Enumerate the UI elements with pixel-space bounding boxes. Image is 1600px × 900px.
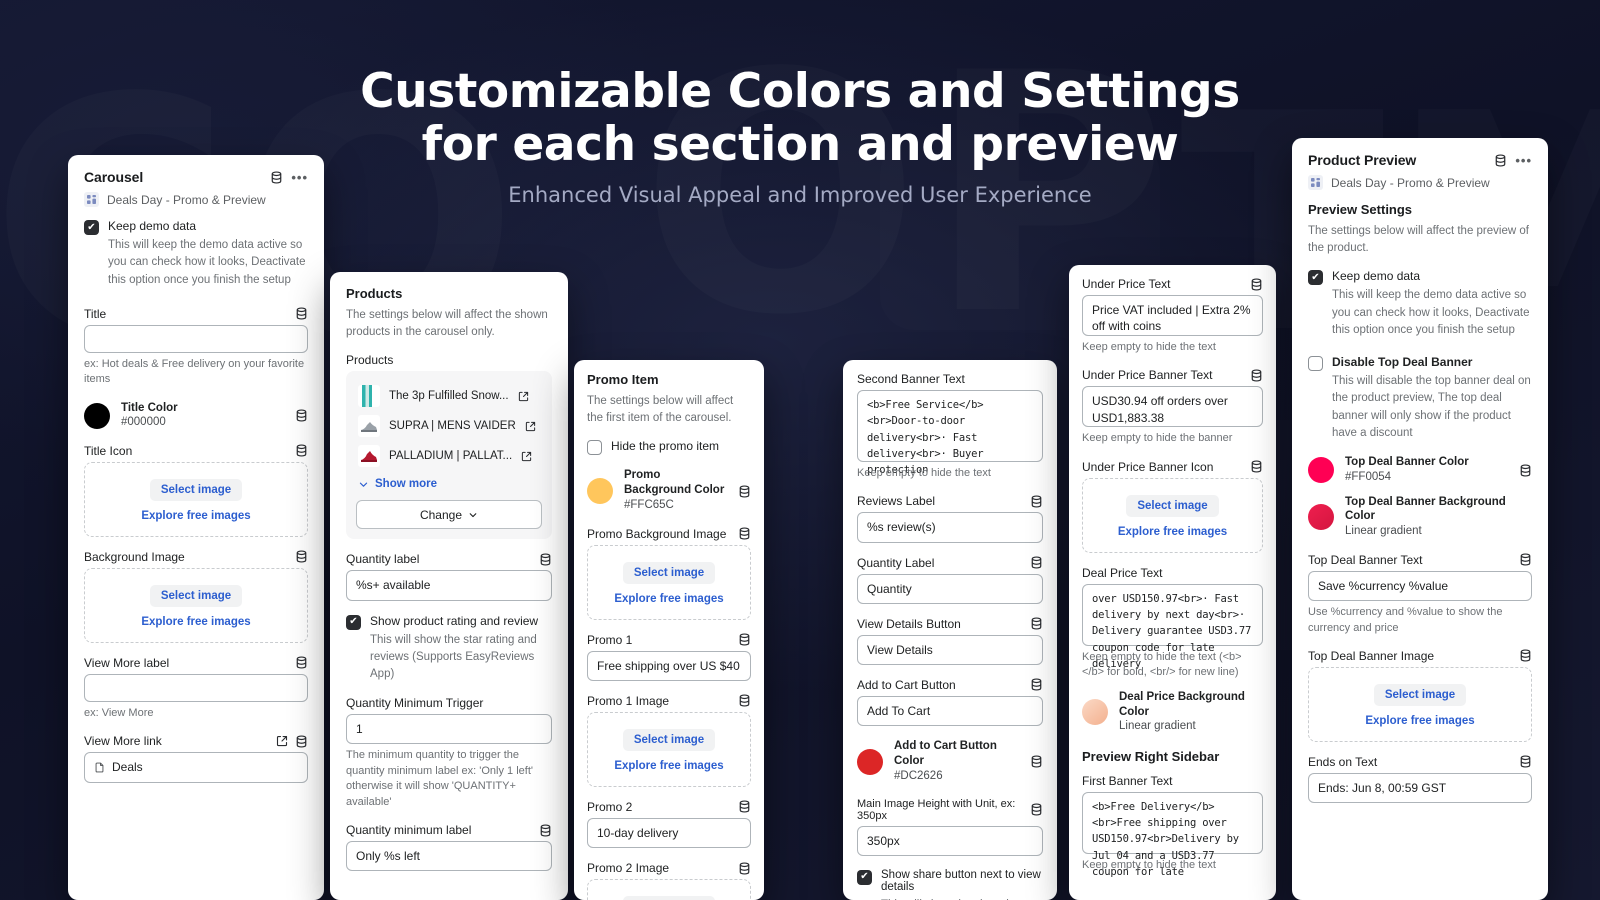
second-banner-text-helper: Keep empty to hide the text: [857, 466, 1043, 481]
promo-background-color-value: #FFC65C: [624, 498, 727, 514]
external-link-icon[interactable]: [521, 451, 532, 462]
keep-demo-data-description: This will keep the demo data active so y…: [108, 237, 308, 289]
database-icon[interactable]: [1519, 649, 1532, 662]
under-price-text-label: Under Price Text: [1082, 277, 1170, 291]
top-deal-banner-text-input[interactable]: Save %currency %value: [1308, 571, 1532, 601]
view-more-link-value: Deals: [112, 759, 143, 775]
keep-demo-data-checkbox[interactable]: ✔: [1308, 270, 1323, 285]
quantity-min-label-input[interactable]: Only %s left: [346, 841, 552, 871]
under-price-text-helper: Keep empty to hide the text: [1082, 340, 1263, 355]
external-link-icon[interactable]: [276, 735, 288, 747]
keep-demo-data-checkbox-row[interactable]: ✔ Keep demo data This will keep the demo…: [1308, 269, 1532, 339]
database-icon[interactable]: [738, 527, 751, 540]
second-banner-text-input[interactable]: <b>Free Service</b><br>Door-to-door deli…: [857, 390, 1043, 462]
change-products-button[interactable]: Change: [356, 500, 542, 529]
select-image-button[interactable]: Select image: [623, 562, 715, 584]
second-banner-text-label: Second Banner Text: [857, 372, 965, 386]
under-price-banner-icon-dropzone[interactable]: Select image Explore free images: [1082, 478, 1263, 553]
deal-price-text-input[interactable]: over USD150.97<br>· Fast delivery by nex…: [1082, 584, 1263, 646]
database-icon[interactable]: [1030, 678, 1043, 691]
database-icon[interactable]: [738, 694, 751, 707]
top-deal-banner-bg-color-row[interactable]: Top Deal Banner Background Color Linear …: [1308, 495, 1532, 540]
promo2-image-dropzone[interactable]: Select image Explore free images: [587, 879, 751, 900]
show-rating-label: Show product rating and review: [370, 614, 552, 628]
show-more-button[interactable]: Show more: [356, 478, 542, 490]
top-deal-banner-text-group: Top Deal Banner Text Save %currency %val…: [1308, 553, 1532, 636]
deal-price-background-color-value: Linear gradient: [1119, 719, 1263, 735]
under-price-banner-text-helper: Keep empty to hide the banner: [1082, 431, 1263, 446]
quantity-min-label-group: Quantity minimum label Only %s left: [346, 823, 552, 871]
promo2-group: Promo 2 10-day delivery: [587, 800, 751, 848]
ends-on-text-label: Ends on Text: [1308, 755, 1377, 769]
chevron-down-icon: [468, 510, 478, 520]
show-rating-description: This will show the star rating and revie…: [370, 632, 552, 684]
product-name: The 3p Fulfilled Snow...: [389, 390, 509, 402]
keep-demo-data-checkbox-row[interactable]: ✔ Keep demo data This will keep the demo…: [84, 219, 308, 289]
background-image-label: Background Image: [84, 550, 185, 564]
quantity-min-trigger-input[interactable]: 1: [346, 714, 552, 744]
database-icon[interactable]: [1494, 154, 1507, 167]
promo1-image-group: Promo 1 Image Select image Explore free …: [587, 694, 751, 787]
change-button-label: Change: [420, 508, 462, 522]
product-thumbnail: [358, 445, 380, 467]
select-image-button[interactable]: Select image: [1374, 684, 1466, 706]
external-link-icon[interactable]: [518, 391, 529, 402]
promo2-image-group: Promo 2 Image Select image Explore free …: [587, 861, 751, 900]
database-icon[interactable]: [1250, 460, 1263, 473]
overflow-menu-icon[interactable]: •••: [1515, 154, 1532, 167]
add-to-cart-button-group: Add to Cart Button Add To Cart: [857, 678, 1043, 726]
hide-promo-label: Hide the promo item: [611, 439, 751, 453]
quantity-label-input[interactable]: %s+ available: [346, 570, 552, 600]
database-icon[interactable]: [270, 171, 283, 184]
promo-bg-image-dropzone[interactable]: Select image Explore free images: [587, 545, 751, 620]
page-icon: [94, 762, 105, 773]
list-item[interactable]: PALLADIUM | PALLAT...: [356, 441, 542, 471]
deal-price-text-label: Deal Price Text: [1082, 566, 1162, 580]
carousel-card-header: Carousel •••: [84, 169, 308, 185]
database-icon[interactable]: [539, 553, 552, 566]
deal-price-text-helper: Keep empty to hide the text (<b></b> for…: [1082, 650, 1263, 681]
background-image-group: Background Image Select image Explore fr…: [84, 550, 308, 643]
add-to-cart-color-value: #DC2626: [894, 769, 1019, 785]
promo-card-title: Promo Item: [587, 372, 751, 387]
database-icon[interactable]: [295, 409, 308, 422]
product-thumbnail: [358, 385, 380, 407]
under-price-banner-text-group: Under Price Banner Text USD30.94 off ord…: [1082, 368, 1263, 446]
select-image-button[interactable]: Select image: [623, 896, 715, 900]
under-price-banner-text-input[interactable]: USD30.94 off orders over USD1,883.38: [1082, 386, 1263, 427]
database-icon[interactable]: [1519, 553, 1532, 566]
quantity-label-label: Quantity Label: [857, 556, 934, 570]
hide-promo-checkbox-row[interactable]: Hide the promo item: [587, 439, 751, 455]
promo1-label: Promo 1: [587, 633, 632, 647]
promo-background-color-name: Promo Background Color: [624, 468, 727, 498]
main-image-height-input[interactable]: 350px: [857, 826, 1043, 856]
database-icon[interactable]: [1030, 495, 1043, 508]
keep-demo-data-label: Keep demo data: [1332, 269, 1532, 283]
quantity-label-label: Quantity label: [346, 552, 419, 566]
database-icon[interactable]: [1030, 617, 1043, 630]
under-price-banner-icon-group: Under Price Banner Icon Select image Exp…: [1082, 460, 1263, 553]
disable-top-deal-banner-checkbox-row[interactable]: Disable Top Deal Banner This will disabl…: [1308, 355, 1532, 442]
carousel-card[interactable]: Carousel ••• Deals Day - Promo & Preview…: [68, 155, 324, 900]
database-icon[interactable]: [1519, 755, 1532, 768]
title-color-row[interactable]: Title Color #000000: [84, 401, 308, 431]
overflow-menu-icon[interactable]: •••: [291, 171, 308, 184]
top-deal-banner-text-label: Top Deal Banner Text: [1308, 553, 1423, 567]
quantity-min-trigger-helper: The minimum quantity to trigger the quan…: [346, 748, 552, 810]
database-icon[interactable]: [1519, 464, 1532, 477]
show-share-checkbox-row[interactable]: ✔ Show share button next to view details…: [857, 869, 1043, 900]
preview-right-sidebar-heading: Preview Right Sidebar: [1082, 749, 1263, 764]
top-deal-banner-text-helper: Use %currency and %value to show the cur…: [1308, 605, 1532, 636]
database-icon[interactable]: [1250, 369, 1263, 382]
view-details-button-input[interactable]: View Details: [857, 635, 1043, 665]
promo-bg-color-row[interactable]: Promo Background Color #FFC65C: [587, 468, 751, 513]
quantity-label-group: Quantity Label Quantity: [857, 556, 1043, 604]
title-field-group: Title ex: Hot deals & Free delivery on y…: [84, 307, 308, 388]
under-price-text-group: Under Price Text Price VAT included | Ex…: [1082, 277, 1263, 355]
under-price-text-input[interactable]: Price VAT included | Extra 2% off with c…: [1082, 295, 1263, 336]
explore-free-images-link[interactable]: Explore free images: [596, 760, 742, 772]
quantity-min-label-label: Quantity minimum label: [346, 823, 471, 837]
hide-promo-checkbox[interactable]: [587, 440, 602, 455]
products-card-title: Products: [346, 286, 552, 301]
main-image-height-label: Main Image Height with Unit, ex: 350px: [857, 798, 1024, 822]
database-icon[interactable]: [738, 485, 751, 498]
title-icon-label: Title Icon: [84, 444, 132, 458]
background-image-dropzone[interactable]: Select image Explore free images: [84, 568, 308, 643]
top-deal-banner-image-dropzone[interactable]: Select image Explore free images: [1308, 667, 1532, 742]
first-banner-text-helper: Keep empty to hide the text: [1082, 858, 1263, 873]
chevron-down-icon: [358, 479, 369, 490]
database-icon[interactable]: [1030, 803, 1043, 816]
first-banner-text-group: First Banner Text <b>Free Delivery</b><b…: [1082, 774, 1263, 873]
add-to-cart-color-name: Add to Cart Button Color: [894, 739, 1019, 769]
top-deal-banner-color-row[interactable]: Top Deal Banner Color #FF0054: [1308, 455, 1532, 485]
promo-item-card[interactable]: Promo Item The settings below will affec…: [574, 360, 764, 900]
select-image-button[interactable]: Select image: [623, 729, 715, 751]
products-picker[interactable]: The 3p Fulfilled Snow... SUPRA | MENS VA…: [346, 371, 552, 539]
database-icon[interactable]: [738, 633, 751, 646]
ends-on-text-input[interactable]: Ends: Jun 8, 00:59 GST: [1308, 773, 1532, 803]
promo1-input[interactable]: Free shipping over US $40: [587, 651, 751, 681]
show-rating-checkbox-row[interactable]: ✔ Show product rating and review This wi…: [346, 614, 552, 684]
database-icon[interactable]: [738, 800, 751, 813]
second-banner-card[interactable]: Second Banner Text <b>Free Service</b><b…: [843, 360, 1057, 900]
show-rating-checkbox[interactable]: ✔: [346, 615, 361, 630]
promo1-image-dropzone[interactable]: Select image Explore free images: [587, 712, 751, 787]
top-deal-banner-image-label: Top Deal Banner Image: [1308, 649, 1434, 663]
view-more-label-group: View More label ex: View More: [84, 656, 308, 721]
list-item[interactable]: The 3p Fulfilled Snow...: [356, 381, 542, 411]
title-field-label: Title: [84, 307, 106, 321]
reviews-label-input[interactable]: %s review(s): [857, 512, 1043, 542]
deal-price-bg-color-row[interactable]: Deal Price Background Color Linear gradi…: [1082, 690, 1263, 735]
products-card-description: The settings below will affect the shown…: [346, 307, 552, 340]
reviews-label-label: Reviews Label: [857, 494, 935, 508]
app-grid-icon: [1308, 175, 1323, 190]
promo-background-color-swatch[interactable]: [587, 478, 613, 504]
database-icon[interactable]: [1250, 278, 1263, 291]
add-to-cart-color-row[interactable]: Add to Cart Button Color #DC2626: [857, 739, 1043, 784]
top-deal-banner-color-name: Top Deal Banner Color: [1345, 455, 1508, 470]
explore-free-images-link[interactable]: Explore free images: [93, 616, 299, 628]
add-to-cart-button-input[interactable]: Add To Cart: [857, 696, 1043, 726]
top-deal-banner-background-color-name: Top Deal Banner Background Color: [1345, 495, 1532, 525]
first-banner-text-input[interactable]: <b>Free Delivery</b><br>Free shipping ov…: [1082, 792, 1263, 854]
title-icon-dropzone[interactable]: Select image Explore free images: [84, 462, 308, 537]
product-preview-card-title: Product Preview: [1308, 152, 1416, 168]
top-deal-banner-color-swatch[interactable]: [1308, 457, 1334, 483]
product-thumbnail: [358, 415, 380, 437]
promo2-image-label: Promo 2 Image: [587, 861, 669, 875]
reviews-label-group: Reviews Label %s review(s): [857, 494, 1043, 542]
database-icon[interactable]: [295, 444, 308, 457]
carousel-app-name: Deals Day - Promo & Preview: [107, 193, 266, 207]
product-name: PALLADIUM | PALLAT...: [389, 450, 512, 462]
keep-demo-data-description: This will keep the demo data active so y…: [1332, 287, 1532, 339]
title-color-swatch[interactable]: [84, 403, 110, 429]
select-image-button[interactable]: Select image: [150, 479, 242, 501]
database-icon[interactable]: [738, 862, 751, 875]
deal-price-background-color-name: Deal Price Background Color: [1119, 690, 1263, 720]
product-name: SUPRA | MENS VAIDER: [389, 420, 516, 432]
preview-settings-description: The settings below will affect the previ…: [1308, 223, 1532, 256]
products-picker-group: Products The 3p Fulfilled Snow... SUPRA …: [346, 353, 552, 539]
database-icon[interactable]: [295, 307, 308, 320]
under-price-banner-icon-label: Under Price Banner Icon: [1082, 460, 1213, 474]
database-icon[interactable]: [1030, 755, 1043, 768]
deal-price-background-color-swatch[interactable]: [1082, 699, 1108, 725]
explore-free-images-link[interactable]: Explore free images: [596, 593, 742, 605]
show-more-label: Show more: [375, 478, 437, 490]
promo1-image-label: Promo 1 Image: [587, 694, 669, 708]
keep-demo-data-checkbox[interactable]: ✔: [84, 220, 99, 235]
explore-free-images-link[interactable]: Explore free images: [93, 510, 299, 522]
quantity-label-group: Quantity label %s+ available: [346, 552, 552, 600]
database-icon[interactable]: [295, 656, 308, 669]
explore-free-images-link[interactable]: Explore free images: [1317, 715, 1523, 727]
deal-price-text-group: Deal Price Text over USD150.97<br>· Fast…: [1082, 566, 1263, 681]
list-item[interactable]: SUPRA | MENS VAIDER: [356, 411, 542, 441]
under-price-card[interactable]: Under Price Text Price VAT included | Ex…: [1069, 265, 1276, 900]
promo-bg-image-group: Promo Background Image Select image Expl…: [587, 527, 751, 620]
promo2-input[interactable]: 10-day delivery: [587, 818, 751, 848]
view-more-label-helper: ex: View More: [84, 706, 308, 721]
product-preview-card[interactable]: Product Preview ••• Deals Day - Promo & …: [1292, 138, 1548, 900]
view-more-label-input[interactable]: [84, 674, 308, 702]
quantity-min-trigger-group: Quantity Minimum Trigger 1 The minimum q…: [346, 696, 552, 810]
promo-card-description: The settings below will affect the first…: [587, 393, 751, 426]
quantity-label-input[interactable]: Quantity: [857, 574, 1043, 604]
show-share-checkbox[interactable]: ✔: [857, 870, 872, 885]
product-preview-app-name: Deals Day - Promo & Preview: [1331, 176, 1490, 190]
select-image-button[interactable]: Select image: [150, 585, 242, 607]
database-icon[interactable]: [295, 735, 308, 748]
app-grid-icon: [84, 192, 99, 207]
external-link-icon[interactable]: [525, 421, 536, 432]
product-preview-card-header: Product Preview •••: [1308, 152, 1532, 168]
carousel-card-title: Carousel: [84, 169, 143, 185]
top-deal-banner-image-group: Top Deal Banner Image Select image Explo…: [1308, 649, 1532, 742]
database-icon[interactable]: [539, 824, 552, 837]
title-field-helper: ex: Hot deals & Free delivery on your fa…: [84, 357, 308, 388]
product-preview-app-row: Deals Day - Promo & Preview: [1308, 175, 1532, 190]
view-details-button-group: View Details Button View Details: [857, 617, 1043, 665]
title-input[interactable]: [84, 325, 308, 353]
database-icon[interactable]: [295, 550, 308, 563]
ends-on-text-group: Ends on Text Ends: Jun 8, 00:59 GST: [1308, 755, 1532, 803]
add-to-cart-color-swatch[interactable]: [857, 749, 883, 775]
products-list-label: Products: [346, 353, 393, 367]
second-banner-text-group: Second Banner Text <b>Free Service</b><b…: [857, 372, 1043, 481]
under-price-banner-text-label: Under Price Banner Text: [1082, 368, 1213, 382]
keep-demo-data-label: Keep demo data: [108, 219, 308, 233]
title-color-name: Title Color: [121, 401, 284, 416]
top-deal-banner-background-color-value: Linear gradient: [1345, 524, 1532, 540]
explore-free-images-link[interactable]: Explore free images: [1091, 526, 1254, 538]
title-icon-group: Title Icon Select image Explore free ima…: [84, 444, 308, 537]
carousel-app-row: Deals Day - Promo & Preview: [84, 192, 308, 207]
disable-top-deal-banner-checkbox[interactable]: [1308, 356, 1323, 371]
quantity-min-trigger-label: Quantity Minimum Trigger: [346, 696, 483, 710]
disable-top-deal-banner-description: This will disable the top banner deal on…: [1332, 373, 1532, 442]
view-more-label-label: View More label: [84, 656, 169, 670]
view-more-link-label: View More link: [84, 734, 162, 748]
add-to-cart-button-label: Add to Cart Button: [857, 678, 956, 692]
promo2-label: Promo 2: [587, 800, 632, 814]
select-image-button[interactable]: Select image: [1126, 495, 1218, 517]
view-more-link-input[interactable]: Deals: [84, 752, 308, 782]
view-more-link-group: View More link Deals: [84, 734, 308, 782]
disable-top-deal-banner-label: Disable Top Deal Banner: [1332, 355, 1532, 369]
products-card[interactable]: Products The settings below will affect …: [330, 272, 568, 900]
first-banner-text-label: First Banner Text: [1082, 774, 1172, 788]
main-image-height-group: Main Image Height with Unit, ex: 350px 3…: [857, 798, 1043, 856]
title-color-value: #000000: [121, 415, 284, 431]
top-deal-banner-color-value: #FF0054: [1345, 470, 1508, 486]
database-icon[interactable]: [1030, 556, 1043, 569]
promo1-group: Promo 1 Free shipping over US $40: [587, 633, 751, 681]
view-details-button-label: View Details Button: [857, 617, 961, 631]
top-deal-banner-background-color-swatch[interactable]: [1308, 504, 1334, 530]
show-share-label: Show share button next to view details: [881, 869, 1043, 893]
preview-settings-heading: Preview Settings: [1308, 202, 1532, 217]
promo-bg-image-label: Promo Background Image: [587, 527, 726, 541]
